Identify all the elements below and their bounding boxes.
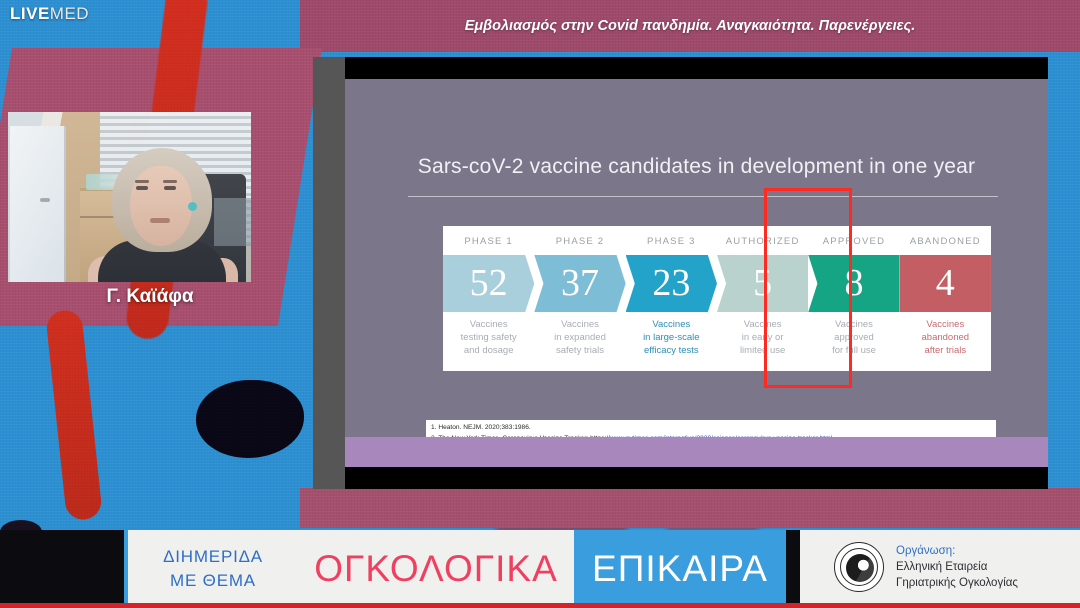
caption-line-3: efficacy tests <box>626 344 717 357</box>
banner-word-epikaira: ΕΠΙΚΑΙΡΑ <box>574 530 786 608</box>
caption-line-1: Vaccines <box>808 318 899 331</box>
caption-line-1: Vaccines <box>717 318 808 331</box>
column-bar: 8 <box>808 255 899 312</box>
column-header: PHASE 2 <box>534 226 625 247</box>
organizer-label: Οργάνωση: <box>896 543 1018 559</box>
column-caption: Vaccines abandoned after trials <box>900 318 991 357</box>
banner-subtitle-line-2: ΜΕ ΘΕΜΑ <box>128 569 298 593</box>
video-scene <box>8 112 251 282</box>
caption-line-3: after trials <box>900 344 991 357</box>
caption-line-1: Vaccines <box>443 318 534 331</box>
column-caption: Vaccines testing safety and dosage <box>443 318 534 357</box>
vaccine-pipeline-chart: PHASE 1 52 Vaccines testing safety and d… <box>443 226 991 371</box>
caption-line-3: for full use <box>808 344 899 357</box>
livemed-logo: LIVEMED <box>10 4 89 24</box>
caption-line-2: abandoned <box>900 331 991 344</box>
banner-accent-line <box>0 603 1080 608</box>
caption-line-3: safety trials <box>534 344 625 357</box>
column-caption: Vaccines in early or limited use <box>717 318 808 357</box>
speaker-name: Γ. Καϊάφα <box>0 286 300 308</box>
column-value: 52 <box>443 255 534 312</box>
video-color-wash <box>8 112 251 282</box>
chart-columns: PHASE 1 52 Vaccines testing safety and d… <box>443 226 991 371</box>
caption-line-2: approved <box>808 331 899 344</box>
column-bar: 52 <box>443 255 534 312</box>
column-caption: Vaccines approved for full use <box>808 318 899 357</box>
banner-subtitle-line-1: ΔΙΗΜΕΡΙΔΑ <box>128 545 298 569</box>
screen-root: LIVEMED Εμβολιασμός στην Covid πανδημία.… <box>0 0 1080 608</box>
column-bar: 5 <box>717 255 808 312</box>
caption-line-1: Vaccines <box>900 318 991 331</box>
slide-viewer[interactable]: Sars-coV-2 vaccine candidates in develop… <box>313 57 1048 489</box>
column-value: 8 <box>808 255 899 312</box>
column-bar: 4 <box>900 255 991 312</box>
chart-column-phase-2: PHASE 2 37 Vaccines in expanded safety t… <box>534 226 625 371</box>
chart-column-authorized: AUTHORIZED 5 Vaccines in early or limite… <box>717 226 808 371</box>
slide-footer-band <box>345 437 1048 467</box>
banner-word-onkologika: ΟΓΚΟΛΟΓΙΚΑ <box>298 548 574 590</box>
letterbox-bottom <box>345 467 1048 489</box>
column-bar: 23 <box>626 255 717 312</box>
organizer-name-line-2: Γηριατρικής Ογκολογίας <box>896 575 1018 591</box>
seal-emblem <box>846 554 874 582</box>
event-banner: ΔΙΗΜΕΡΙΔΑ ΜΕ ΘΕΜΑ ΟΓΚΟΛΟΓΙΚΑ ΕΠΙΚΑΙΡΑ Ορ… <box>0 530 1080 608</box>
chart-column-abandoned: ABANDONED 4 Vaccines abandoned after tri… <box>900 226 991 371</box>
caption-line-2: in large-scale <box>626 331 717 344</box>
column-caption: Vaccines in expanded safety trials <box>534 318 625 357</box>
banner-main-card: ΔΙΗΜΕΡΙΔΑ ΜΕ ΘΕΜΑ ΟΓΚΟΛΟΓΙΚΑ ΕΠΙΚΑΙΡΑ <box>124 530 786 608</box>
caption-line-2: in expanded <box>534 331 625 344</box>
chart-column-phase-3: PHASE 3 23 Vaccines in large-scale effic… <box>626 226 717 371</box>
slide-canvas: Sars-coV-2 vaccine candidates in develop… <box>345 79 1048 467</box>
organizer-name-line-1: Ελληνική Εταιρεία <box>896 559 1018 575</box>
speaker-video-tile[interactable] <box>8 112 251 282</box>
chart-column-phase-1: PHASE 1 52 Vaccines testing safety and d… <box>443 226 534 371</box>
caption-line-1: Vaccines <box>626 318 717 331</box>
caption-line-3: and dosage <box>443 344 534 357</box>
column-value: 5 <box>717 255 808 312</box>
organizer-text: Οργάνωση: Ελληνική Εταιρεία Γηριατρικής … <box>896 543 1018 591</box>
column-caption: Vaccines in large-scale efficacy tests <box>626 318 717 357</box>
column-header: ABANDONED <box>900 226 991 247</box>
caption-line-1: Vaccines <box>534 318 625 331</box>
logo-light: MED <box>50 4 89 23</box>
slide-title: Sars-coV-2 vaccine candidates in develop… <box>345 155 1048 179</box>
caption-line-2: in early or <box>717 331 808 344</box>
letterbox-top <box>345 57 1048 79</box>
column-header: PHASE 3 <box>626 226 717 247</box>
organizer-block: Οργάνωση: Ελληνική Εταιρεία Γηριατρικής … <box>800 530 1080 608</box>
column-value: 4 <box>900 255 991 312</box>
society-seal-icon <box>834 542 884 592</box>
caption-line-3: limited use <box>717 344 808 357</box>
chart-column-approved: APPROVED 8 Vaccines approved for full us… <box>808 226 899 371</box>
column-header: APPROVED <box>808 226 899 247</box>
column-bar: 37 <box>534 255 625 312</box>
column-value: 23 <box>626 255 717 312</box>
column-header: PHASE 1 <box>443 226 534 247</box>
logo-bold: LIVE <box>10 4 50 23</box>
caption-line-2: testing safety <box>443 331 534 344</box>
slide-title-rule <box>408 196 998 197</box>
presentation-title: Εμβολιασμός στην Covid πανδημία. Αναγκαι… <box>300 18 1080 34</box>
reference-line-1: 1. Heaton. NEJM. 2020;383:1986. <box>431 423 991 434</box>
banner-subtitle: ΔΙΗΜΕΡΙΔΑ ΜΕ ΘΕΜΑ <box>128 545 298 593</box>
column-value: 37 <box>534 255 625 312</box>
column-header: AUTHORIZED <box>717 226 808 247</box>
